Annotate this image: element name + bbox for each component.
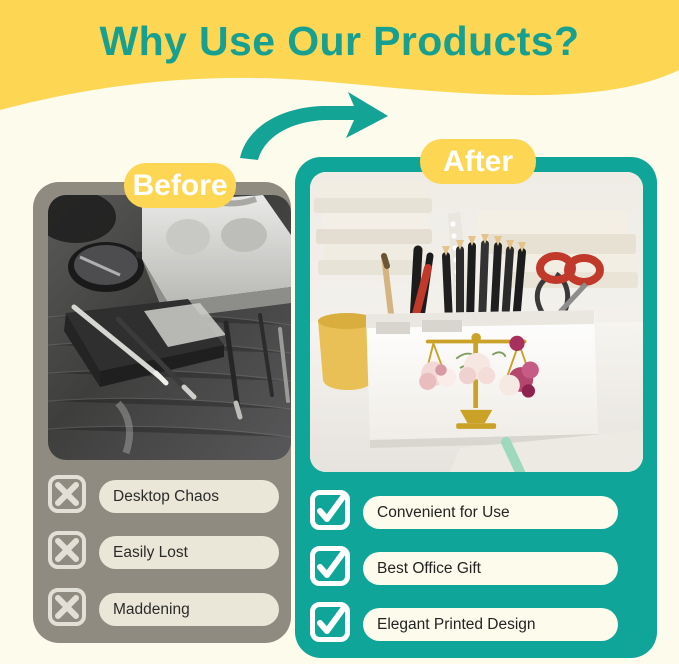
infographic-canvas: Why Use Our Products? [0,0,679,664]
after-label-pill: After [420,139,536,184]
spacer [350,624,363,625]
spacer [350,568,363,569]
before-list-item[interactable]: Desktop Chaos [48,475,279,518]
spacer [86,609,99,610]
before-list-item[interactable]: Maddening [48,588,279,631]
curved-arrow-right-icon [236,92,426,164]
check-checkbox-icon [310,602,350,647]
after-photo [310,172,643,472]
check-checkbox-icon [310,546,350,591]
after-item-label: Convenient for Use [363,496,618,529]
after-list-item[interactable]: Best Office Gift [310,546,618,591]
spacer [350,512,363,513]
cross-checkbox-icon [48,531,86,574]
before-photo [48,195,291,460]
after-list-item[interactable]: Elegant Printed Design [310,602,618,647]
before-item-label: Desktop Chaos [99,480,279,513]
after-item-label: Elegant Printed Design [363,608,618,641]
spacer [86,496,99,497]
cross-checkbox-icon [48,588,86,631]
before-item-label: Maddening [99,593,279,626]
after-item-label: Best Office Gift [363,552,618,585]
before-label-pill: Before [124,163,236,208]
spacer [86,552,99,553]
cross-checkbox-icon [48,475,86,518]
after-list-item[interactable]: Convenient for Use [310,490,618,535]
before-item-label: Easily Lost [99,536,279,569]
page-title: Why Use Our Products? [0,18,679,65]
before-list-item[interactable]: Easily Lost [48,531,279,574]
check-checkbox-icon [310,490,350,535]
